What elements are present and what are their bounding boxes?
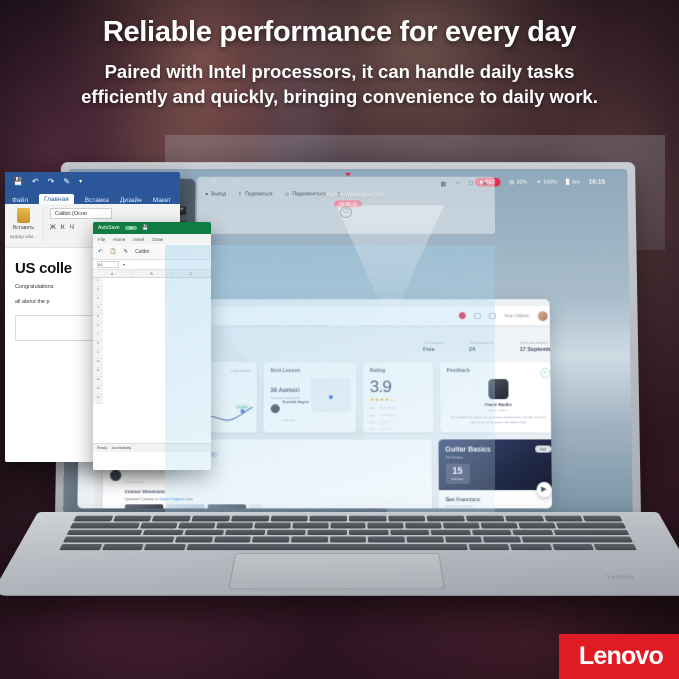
teacher-role: Instructor: [282, 418, 295, 422]
rating-score: 3.9: [370, 377, 426, 397]
activity-action-suffix: class: [185, 497, 193, 501]
layout-icon[interactable]: ▦: [440, 181, 446, 188]
rating-row-stars-icon: ★★☆☆☆: [380, 427, 396, 431]
connect-button[interactable]: ☺ Подключиться: [284, 191, 325, 197]
column-header[interactable]: B: [132, 270, 171, 277]
folder-icon[interactable]: [474, 313, 481, 319]
stat-value: 17 September: [520, 347, 552, 353]
user-name: Amy Clayton: [504, 313, 530, 318]
office-windows-group: 💾 ↶ ↷ ✎ ▾ Файл Главная Вставка Дизайн Ма…: [5, 172, 210, 492]
guitar-title: Guitar Basics: [445, 447, 490, 454]
column-header[interactable]: C: [172, 270, 211, 277]
paste-icon[interactable]: [17, 208, 30, 223]
feedback-author: Owen Banks: [447, 402, 549, 407]
close-button[interactable]: ✕: [483, 181, 488, 188]
row-header[interactable]: 5: [93, 314, 103, 323]
rating-row: 5 st ★★★★★: [370, 406, 426, 410]
stat-value: Free: [423, 347, 443, 353]
thumbnail[interactable]: [124, 504, 163, 508]
rating-row-stars-icon: ★★★★☆: [380, 413, 396, 417]
teacher-block: Ronald Hayes Instructor: [270, 390, 309, 426]
accessibility-status[interactable]: Accessibility: [112, 446, 131, 450]
clipboard-label: Буфер обм...: [10, 234, 37, 239]
poster-canvas: Reliable performance for every day Paire…: [0, 0, 679, 679]
undo-icon[interactable]: ↶: [32, 177, 39, 186]
dropdown-icon[interactable]: ▾: [123, 262, 125, 267]
word-titlebar: 💾 ↶ ↷ ✎ ▾: [5, 172, 180, 190]
stat-value: 24: [469, 347, 494, 353]
tab-home[interactable]: Главная: [39, 194, 74, 204]
excel-titlebar: AutoSave On 💾: [93, 222, 211, 234]
rating-stars-icon: ★★★★☆: [370, 397, 426, 403]
excel-grid[interactable]: A B C 1 2 3 4 5 6 7 8 9 10 11 12: [93, 270, 211, 452]
tab-file[interactable]: Файл: [12, 197, 28, 204]
signal-value: 5m: [572, 179, 580, 185]
maximize-button[interactable]: □: [469, 181, 473, 188]
signal-indicator: ▊ 5m: [566, 179, 580, 185]
subtitle-line-1: Paired with Intel processors, it can han…: [0, 60, 679, 85]
connect-label: Подключиться: [292, 191, 325, 197]
column-header[interactable]: A: [93, 270, 132, 277]
end-call-label: Выход: [211, 191, 226, 197]
feedback-card: Feedback ✓ Owen Banks Guitar Student It …: [440, 362, 552, 432]
italic-button[interactable]: К: [61, 224, 65, 231]
brightness-value: 100%: [543, 179, 557, 185]
brightness-indicator: ☀ 100%: [536, 179, 557, 185]
autosave-label: AutoSave: [98, 225, 120, 231]
clipboard-group: Вставить Буфер обм...: [10, 208, 44, 243]
thumbnail[interactable]: [166, 504, 205, 508]
stat-label: Next enrollment: [520, 340, 552, 345]
check-circle-icon[interactable]: ✓: [540, 368, 550, 378]
rating-row-stars-icon: ★★★★★: [380, 406, 396, 410]
minimize-button[interactable]: –: [456, 181, 459, 188]
date-day: 15: [451, 467, 463, 476]
row-header[interactable]: 13: [93, 386, 103, 395]
lenovo-logo: Lenovo: [559, 634, 679, 679]
paste-label: Вставить: [13, 225, 34, 231]
format-painter-icon[interactable]: ✎: [123, 249, 128, 255]
share-button[interactable]: ⇧ Поделиться: [238, 191, 273, 197]
thumbnail-strip: +5: [124, 504, 424, 508]
rating-row: 3 st ★★★☆☆: [370, 420, 426, 424]
row-header[interactable]: 3: [93, 296, 103, 305]
status-ready: Ready: [97, 446, 107, 450]
row-header[interactable]: 12: [93, 377, 103, 386]
date-month: February: [451, 477, 463, 481]
signal-icon: ▊: [566, 179, 570, 185]
word-ribbon-tabs: Файл Главная Вставка Дизайн Макет: [5, 190, 180, 204]
paste-icon[interactable]: 📋: [110, 249, 117, 255]
save-icon[interactable]: 💾: [13, 177, 23, 186]
video-call-window: ▦ – □ ✕ ● Выход ⇧ Поделиться: [197, 177, 495, 234]
excel-statusbar: Ready Accessibility: [93, 443, 211, 452]
row-header[interactable]: 11: [93, 368, 103, 377]
undo-icon[interactable]: ↶: [98, 249, 103, 255]
guitar-address: 849 Zemlak Junction: [446, 504, 551, 508]
activity-action-prefix: Uploaded 7 photos to: [125, 497, 159, 501]
guitar-card: Guitar Basics 25 Preview Edit 15 Februar…: [438, 439, 552, 508]
row-header[interactable]: 4: [93, 305, 103, 314]
font-name-input[interactable]: Calibri (Осно: [50, 208, 112, 219]
excel-formula-bar: A1 ▾: [93, 260, 211, 270]
guitar-location: San Francisco: [446, 497, 551, 503]
avatar[interactable]: [537, 311, 547, 321]
rating-row-stars-icon: ★★★☆☆: [380, 420, 396, 424]
notification-icon[interactable]: [459, 312, 466, 319]
subtitle-line-2: efficiently and quickly, bringing conven…: [0, 85, 679, 110]
page-title: Reliable performance for every day: [0, 16, 679, 49]
activity-action-link[interactable]: Chord Progress: [159, 497, 184, 501]
hud-clock: 10:15: [589, 179, 606, 186]
rating-row: 4 st ★★★★☆: [370, 413, 426, 417]
rating-row-label: 2 st: [370, 427, 377, 431]
trackpad[interactable]: [228, 553, 445, 589]
battery-indicator: ▤ 30%: [509, 179, 527, 185]
tab-draw[interactable]: Draw: [153, 237, 164, 242]
laptop-base: Lenovo: [20, 512, 675, 644]
stat-status: Your status Free: [423, 340, 443, 353]
headline-block: Reliable performance for every day Paire…: [0, 16, 679, 109]
stat-label: Your status: [423, 340, 443, 345]
date-badge: 15 February: [445, 464, 469, 484]
stat-students: Total students 24: [469, 340, 494, 353]
play-icon[interactable]: ▶: [536, 482, 551, 497]
edit-button[interactable]: Edit: [535, 446, 551, 453]
tab-file[interactable]: File: [98, 237, 105, 242]
battery-value: 30%: [516, 179, 527, 185]
chat-icon[interactable]: [489, 313, 496, 319]
tab-home[interactable]: Home: [113, 237, 125, 242]
excel-window: AutoSave On 💾 File Home Insert Draw ↶ 📋 …: [93, 222, 211, 470]
name-box[interactable]: A1: [97, 261, 119, 268]
tab-design[interactable]: Дизайн: [120, 197, 142, 204]
stat-label: Total students: [469, 340, 494, 345]
stat-enrollment: Next enrollment 17 September: [520, 340, 552, 353]
tab-insert[interactable]: Вставка: [85, 197, 109, 204]
row-header[interactable]: 2: [93, 287, 103, 296]
row-header[interactable]: 6: [93, 323, 103, 332]
rating-row-label: 3 st: [370, 420, 377, 424]
share-label: Поделиться: [245, 191, 272, 197]
teacher-name: Ronald Hayes: [282, 399, 309, 404]
excel-ribbon: ↶ 📋 ✎ Calibri: [93, 244, 211, 260]
row-header[interactable]: 14: [93, 395, 103, 404]
guitar-cover-image: Guitar Basics 25 Preview Edit 15 Februar…: [438, 439, 552, 490]
power-icon[interactable]: ⏻: [340, 206, 352, 218]
rating-row-label: 4 st: [370, 413, 377, 417]
dropdown-icon[interactable]: ▾: [79, 178, 82, 185]
lenovo-wordmark: Lenovo: [579, 642, 663, 670]
keyboard-deck: Lenovo: [0, 512, 679, 596]
activity-action: Uploaded 7 photos to Chord Progress clas…: [125, 497, 425, 501]
format-painter-icon[interactable]: ✎: [63, 177, 70, 186]
map-pin-icon: [328, 394, 334, 400]
redo-icon[interactable]: ↷: [48, 177, 55, 186]
feedback-text: It is probably the dream of any amateur …: [447, 415, 550, 424]
card-title: Feedback: [447, 368, 549, 374]
rating-card: Rating 3.9 ★★★★☆ 5 st ★★★★★ 4 st ★★★★☆: [363, 362, 433, 432]
row-header[interactable]: 7: [93, 332, 103, 341]
more-thumbnails[interactable]: +5: [249, 504, 262, 508]
share-icon: ⇧: [238, 191, 242, 197]
person-icon: ☺: [284, 191, 289, 197]
next-lesson-card: Next Lesson 36 Aomori Selhurst Kilmalloc…: [263, 362, 355, 432]
rating-row-label: 5 st: [370, 406, 377, 410]
row-header[interactable]: 1: [93, 278, 103, 287]
feedback-role: Guitar Student: [447, 408, 549, 412]
card-title: Rating: [370, 368, 426, 374]
avatar: [488, 379, 508, 399]
avatar: [270, 404, 279, 413]
row-header[interactable]: 10: [93, 359, 103, 368]
thumbnail[interactable]: [207, 504, 246, 508]
tab-layout[interactable]: Макет: [153, 197, 171, 204]
row-header[interactable]: 8: [93, 341, 103, 350]
laptop-brand-emboss: Lenovo: [606, 575, 635, 580]
underline-button[interactable]: Ч: [70, 224, 74, 231]
row-header[interactable]: 9: [93, 350, 103, 359]
bold-button[interactable]: Ж: [50, 224, 56, 231]
brightness-icon: ☀: [536, 179, 541, 185]
rating-row: 2 st ★★☆☆☆: [370, 427, 426, 431]
tab-insert[interactable]: Insert: [133, 237, 144, 242]
excel-save-icon[interactable]: 💾: [142, 225, 148, 231]
card-title: Next Lesson: [271, 368, 349, 374]
camera-icon[interactable]: ▯: [338, 191, 341, 197]
battery-icon: ▤: [509, 179, 514, 185]
guitar-subtitle: 25 Preview: [445, 456, 462, 460]
excel-ribbon-tabs: File Home Insert Draw: [93, 234, 211, 244]
keyboard[interactable]: [59, 516, 637, 550]
page-subtitle: Paired with Intel processors, it can han…: [0, 60, 679, 109]
row-headers: 1 2 3 4 5 6 7 8 9 10 11 12 13 14: [93, 278, 103, 404]
autosave-toggle[interactable]: On: [125, 226, 138, 230]
period-select[interactable]: Last month: [231, 368, 251, 373]
font-name-input[interactable]: Calibri: [135, 249, 149, 255]
